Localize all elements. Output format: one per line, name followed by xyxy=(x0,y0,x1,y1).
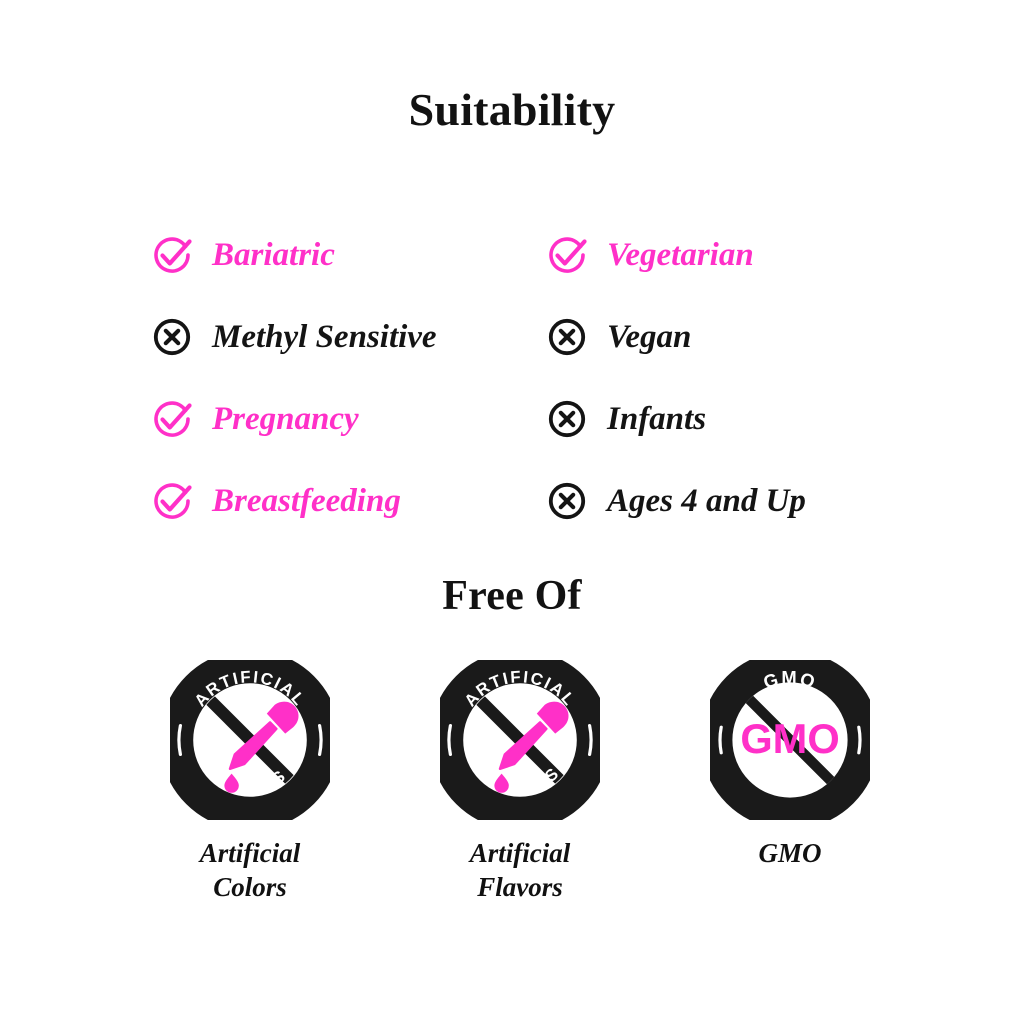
suitability-item-breastfeeding: Breastfeeding xyxy=(150,460,545,542)
suitability-item-label: Methyl Sensitive xyxy=(212,319,437,355)
suitability-item-bariatric: Bariatric xyxy=(150,214,545,296)
check-circle-icon xyxy=(545,233,589,277)
check-circle-icon xyxy=(150,479,194,523)
x-circle-icon xyxy=(545,397,589,441)
no-artificial-colors-badge-icon: ARTIFICIAL COLORS xyxy=(170,660,330,820)
suitability-item-label: Bariatric xyxy=(212,237,335,273)
x-circle-icon xyxy=(545,479,589,523)
suitability-item-label: Pregnancy xyxy=(212,401,359,437)
suitability-item-label: Vegetarian xyxy=(607,237,754,273)
badge-caption-line1: GMO xyxy=(758,836,821,870)
badge-caption-line1: Artificial xyxy=(470,836,571,870)
free-of-badge-artificial-flavors: ARTIFICIAL FLAVORS Artificial Flavors xyxy=(420,660,620,904)
badge-center-text: GMO xyxy=(740,715,839,762)
svg-text:GMO: GMO xyxy=(765,773,816,798)
badge-caption-line1: Artificial xyxy=(200,836,301,870)
badge-caption: Artificial Flavors xyxy=(470,836,571,904)
no-artificial-flavors-badge-icon: ARTIFICIAL FLAVORS xyxy=(440,660,600,820)
free-of-badge-row: ARTIFICIAL COLORS Artificial Colors xyxy=(150,660,890,904)
suitability-panel: Suitability Bariatric Vegetarian Met xyxy=(0,0,1024,1024)
page-title: Suitability xyxy=(0,84,1024,136)
free-of-badge-artificial-colors: ARTIFICIAL COLORS Artificial Colors xyxy=(150,660,350,904)
suitability-item-pregnancy: Pregnancy xyxy=(150,378,545,460)
free-of-title: Free Of xyxy=(0,572,1024,620)
suitability-list: Bariatric Vegetarian Methyl Sensitive xyxy=(150,214,890,542)
suitability-item-label: Vegan xyxy=(607,319,691,355)
svg-text:GMO: GMO xyxy=(761,667,819,693)
suitability-item-methyl-sensitive: Methyl Sensitive xyxy=(150,296,545,378)
badge-ring-text-bottom: GMO xyxy=(765,773,816,798)
x-circle-icon xyxy=(150,315,194,359)
x-circle-icon xyxy=(545,315,589,359)
check-circle-icon xyxy=(150,397,194,441)
suitability-item-label: Infants xyxy=(607,401,706,437)
badge-caption-line2: Flavors xyxy=(470,870,571,904)
suitability-item-label: Breastfeeding xyxy=(212,483,401,519)
suitability-item-vegetarian: Vegetarian xyxy=(545,214,890,296)
badge-caption: GMO xyxy=(758,836,821,870)
suitability-item-infants: Infants xyxy=(545,378,890,460)
suitability-item-vegan: Vegan xyxy=(545,296,890,378)
suitability-item-label: Ages 4 and Up xyxy=(607,483,806,519)
no-gmo-badge-icon: GMO GMO GMO xyxy=(710,660,870,820)
badge-caption: Artificial Colors xyxy=(200,836,301,904)
badge-ring-text-top: GMO xyxy=(761,667,819,693)
suitability-item-ages-4-and-up: Ages 4 and Up xyxy=(545,460,890,542)
free-of-badge-gmo: GMO GMO GMO GMO xyxy=(690,660,890,870)
badge-caption-line2: Colors xyxy=(200,870,301,904)
check-circle-icon xyxy=(150,233,194,277)
